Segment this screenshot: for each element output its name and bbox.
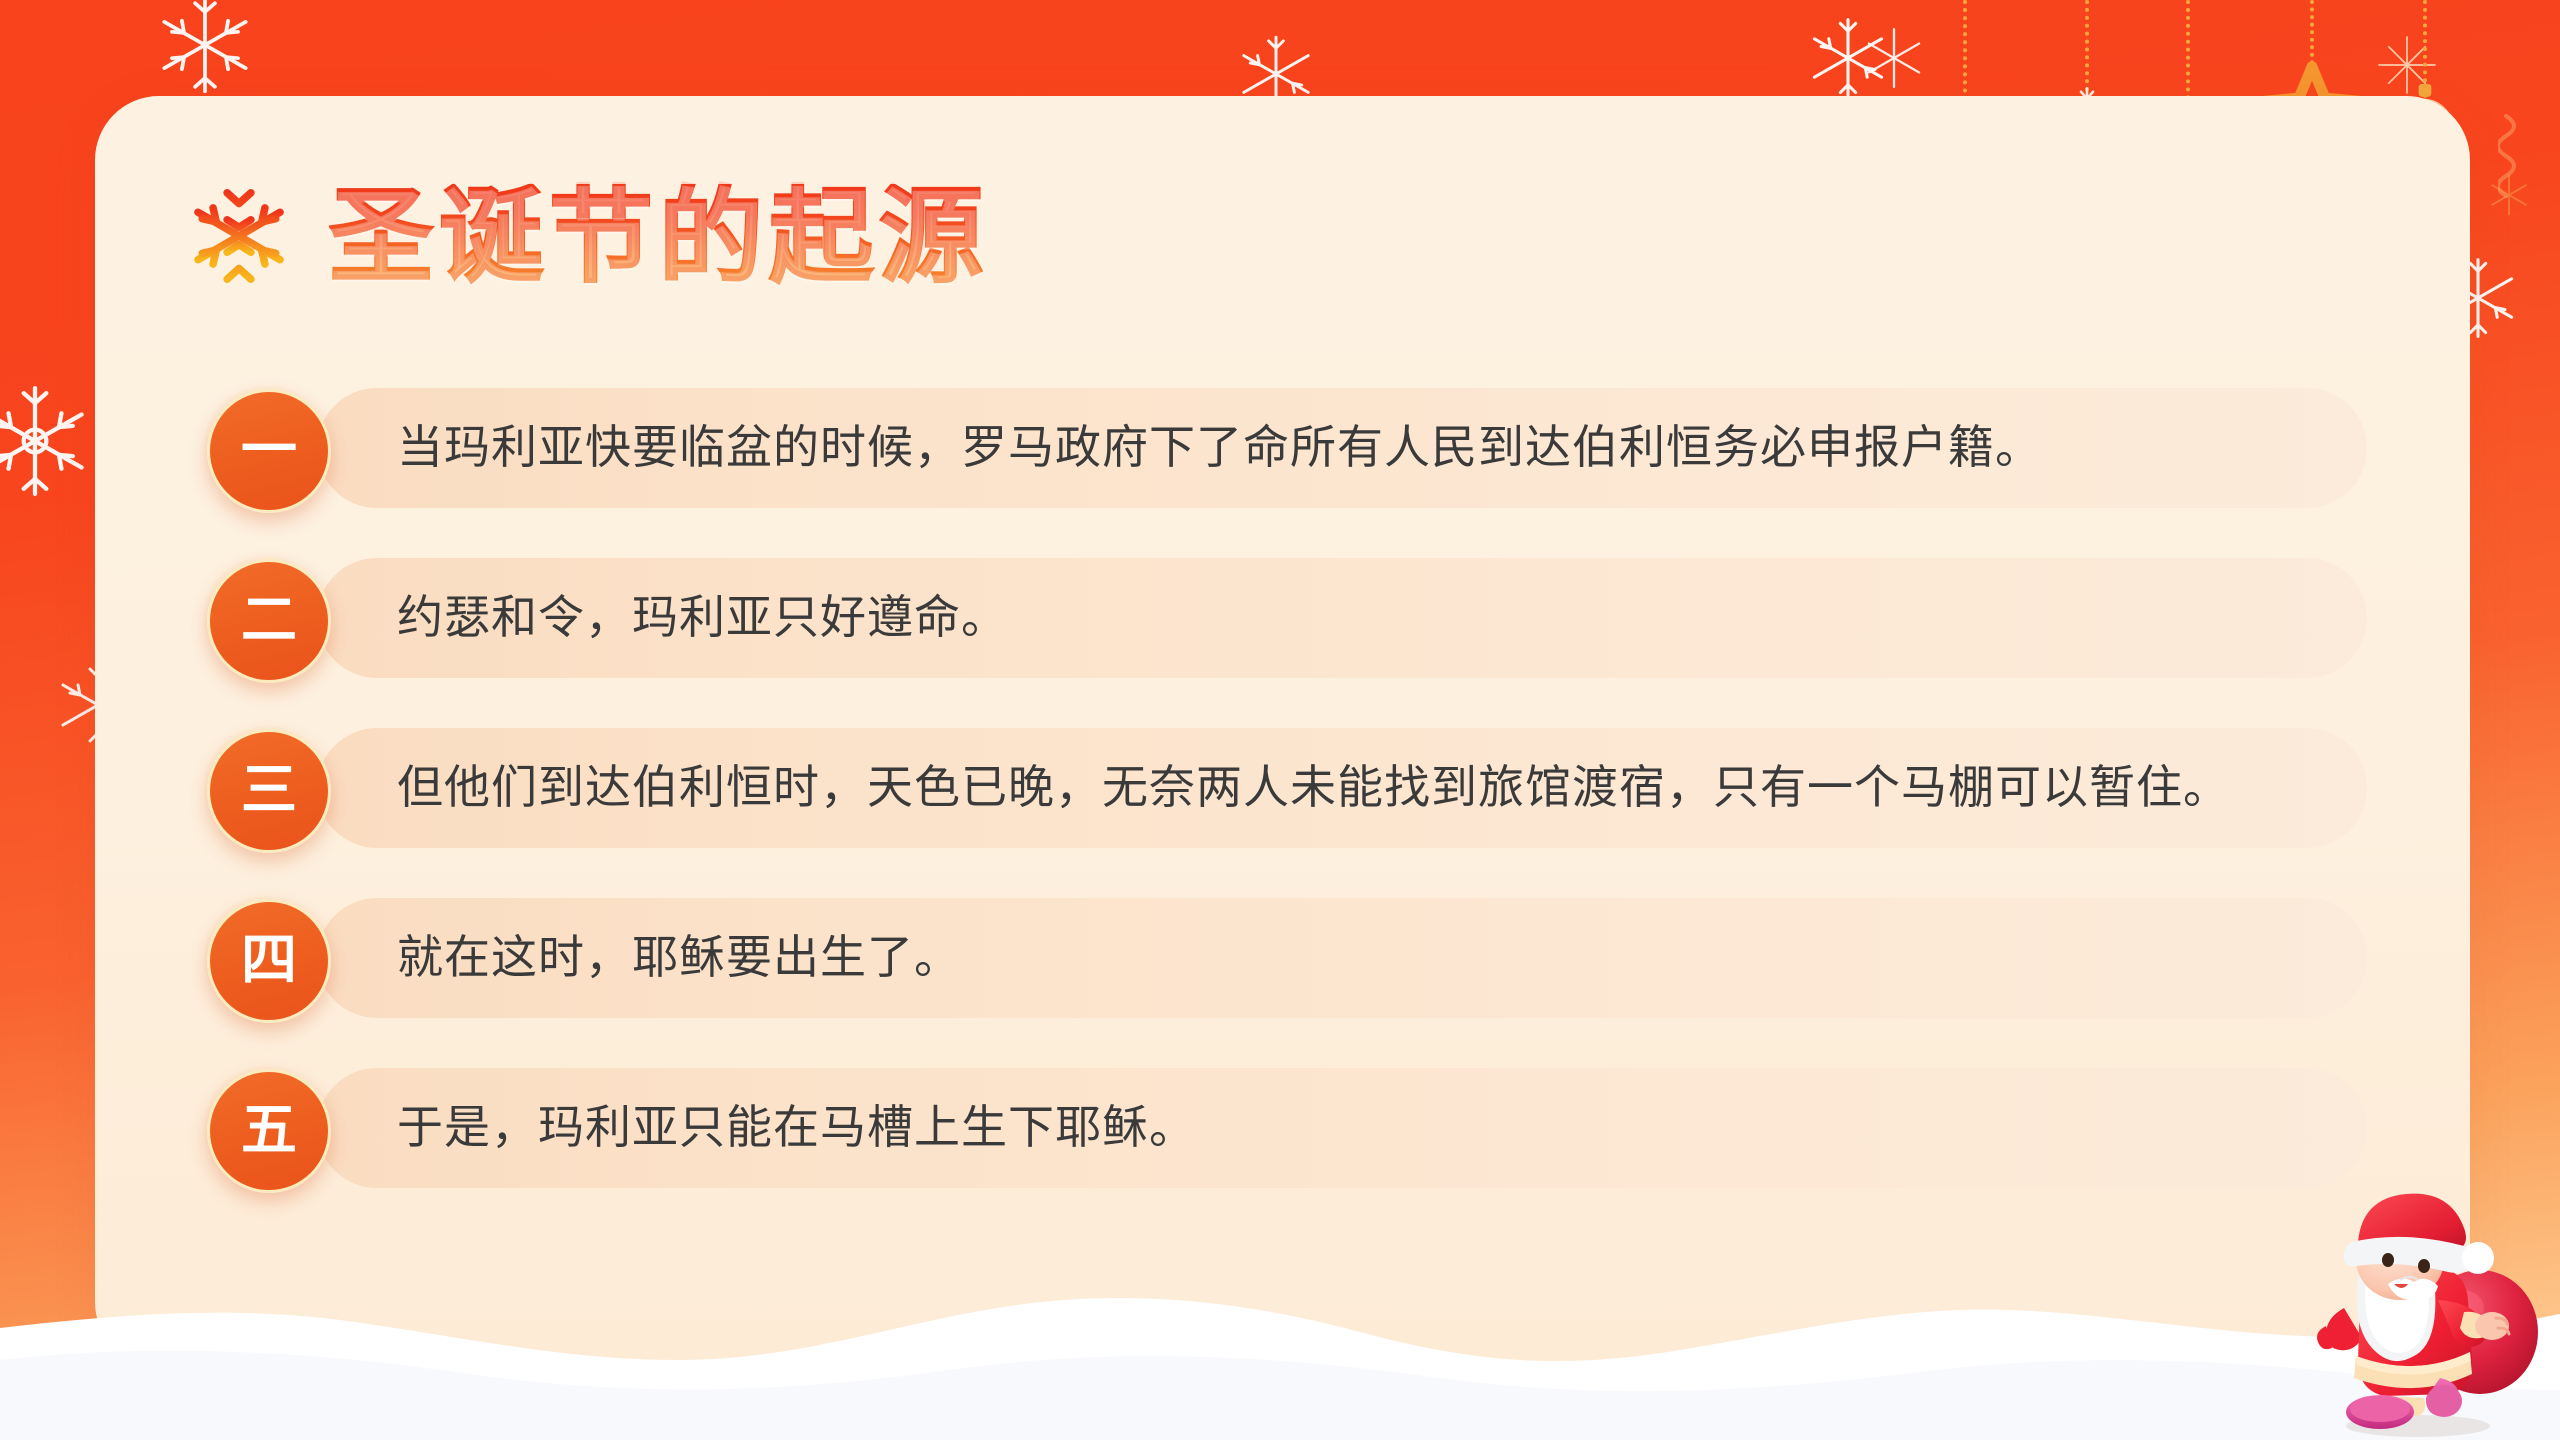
step-number: 二 [207, 559, 331, 683]
sparkle-icon [2372, 30, 2442, 100]
step-number: 一 [207, 389, 331, 513]
step-badge: 一 [207, 389, 325, 507]
step-badge: 三 [207, 729, 325, 847]
list-item[interactable]: 四 就在这时，耶稣要出生了。 [207, 898, 2367, 1018]
list-item[interactable]: 三 但他们到达伯利恒时，天色已晚，无奈两人未能找到旅馆渡宿，只有一个马棚可以暂住… [207, 728, 2367, 848]
step-number: 三 [207, 729, 331, 853]
list-item-text: 约瑟和令，玛利亚只好遵命。 [397, 589, 1008, 647]
list-item-text: 当玛利亚快要临盆的时候，罗马政府下了命所有人民到达伯利恒务必申报户籍。 [397, 419, 2042, 477]
step-badge: 二 [207, 559, 325, 677]
slide-canvas: 圣诞节的起源 一 当玛利亚快要临盆的时候，罗马政府下了命所有人民到达伯利恒务必申… [0, 0, 2560, 1440]
squiggle-decor-icon [2498, 110, 2538, 220]
content-card: 圣诞节的起源 一 当玛利亚快要临盆的时候，罗马政府下了命所有人民到达伯利恒务必申… [95, 96, 2470, 1366]
step-number: 四 [207, 899, 331, 1023]
list-item-text: 但他们到达伯利恒时，天色已晚，无奈两人未能找到旅馆渡宿，只有一个马棚可以暂住。 [397, 759, 2230, 817]
background-snowflake [0, 378, 98, 504]
page-title: 圣诞节的起源 [185, 182, 989, 290]
snow-drift [0, 1210, 2560, 1440]
background-snowflake [150, 0, 260, 100]
santa-claus-figure [2282, 1180, 2542, 1440]
step-badge: 五 [207, 1069, 325, 1187]
origin-steps-list: 一 当玛利亚快要临盆的时候，罗马政府下了命所有人民到达伯利恒务必申报户籍。 二 … [207, 388, 2367, 1238]
step-badge: 四 [207, 899, 325, 1017]
list-item-text: 于是，玛利亚只能在马槽上生下耶稣。 [397, 1099, 1196, 1157]
page-title-text: 圣诞节的起源 [329, 184, 989, 288]
list-item-text: 就在这时，耶稣要出生了。 [397, 929, 961, 987]
background-snowflake [2482, 168, 2536, 222]
list-item[interactable]: 二 约瑟和令，玛利亚只好遵命。 [207, 558, 2367, 678]
step-number: 五 [207, 1069, 331, 1193]
list-item[interactable]: 五 于是，玛利亚只能在马槽上生下耶稣。 [207, 1068, 2367, 1188]
list-item[interactable]: 一 当玛利亚快要临盆的时候，罗马政府下了命所有人民到达伯利恒务必申报户籍。 [207, 388, 2367, 508]
background-snowflake [1800, 10, 1896, 106]
snowflake-icon [185, 182, 293, 290]
background-snowflake [1856, 20, 1932, 96]
